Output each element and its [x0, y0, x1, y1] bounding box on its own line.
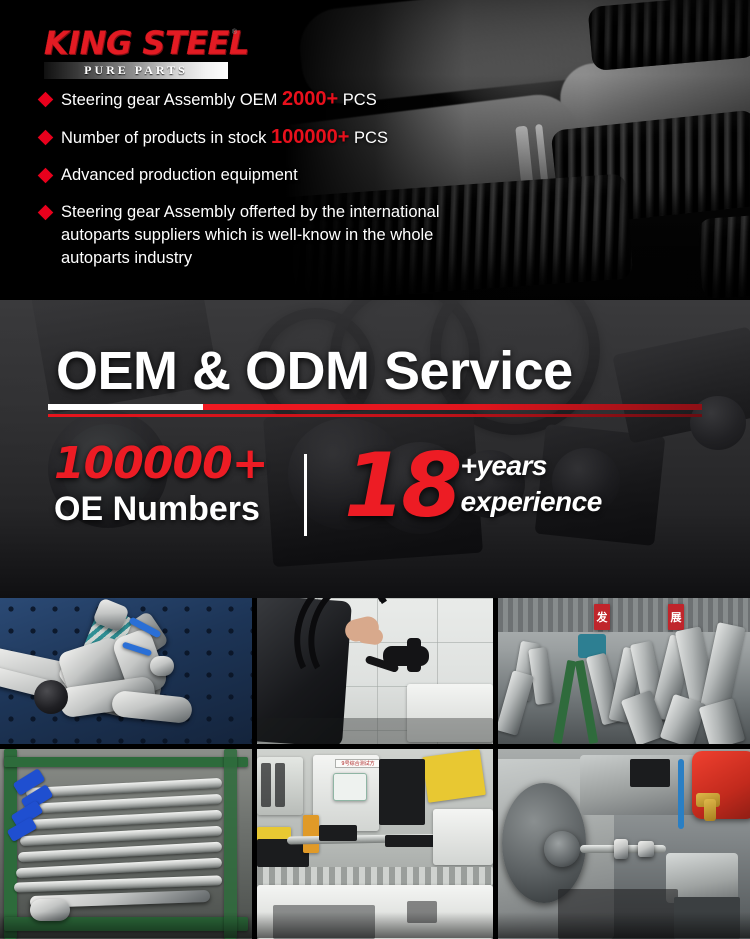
brand-name: KING STEEL: [44, 27, 228, 59]
feature-bullet-list: Steering gear Assembly OEM 2000+ PCS Num…: [40, 88, 510, 270]
diamond-bullet-icon: [38, 168, 54, 184]
list-item: Steering gear Assembly OEM 2000+ PCS: [40, 88, 510, 112]
trademark-icon: ®: [232, 29, 237, 36]
brand-tagline-bar: PURE PARTS: [44, 62, 228, 79]
bullet-text: Steering gear Assembly offerted by the i…: [61, 201, 461, 270]
bullet-highlight: 2000+: [282, 88, 338, 110]
warehouse-roof: [498, 598, 750, 632]
gallery-photo-6[interactable]: [498, 749, 750, 939]
gallery-photo-1[interactable]: [0, 598, 252, 744]
diamond-bullet-icon: [38, 205, 54, 221]
diamond-bullet-icon: [38, 92, 54, 108]
gallery-photo-2[interactable]: [257, 598, 493, 744]
hero-banner: KING STEEL ® PURE PARTS Steering gear As…: [0, 0, 750, 300]
machine-sign: 9号综合测试方: [335, 759, 381, 768]
brand-logo: KING STEEL ® PURE PARTS: [44, 27, 228, 79]
diamond-bullet-icon: [38, 130, 54, 146]
oem-odm-section: [0, 300, 750, 598]
bullet-text: Number of products in stock 100000+ PCS: [61, 126, 388, 150]
gallery-photo-4[interactable]: [0, 749, 252, 939]
list-item: Number of products in stock 100000+ PCS: [40, 126, 510, 150]
list-item: Steering gear Assembly offerted by the i…: [40, 201, 510, 270]
list-item: Advanced production equipment: [40, 164, 510, 187]
brand-tagline: PURE PARTS: [84, 63, 188, 78]
bullet-text: Steering gear Assembly OEM 2000+ PCS: [61, 88, 377, 112]
bullet-highlight: 100000+: [271, 126, 349, 148]
gallery-photo-3[interactable]: 发 展: [498, 598, 750, 744]
factory-photo-gallery: 发 展 9号综: [0, 598, 750, 938]
gallery-photo-5[interactable]: 9号综合测试方: [257, 749, 493, 939]
warehouse-sign-1: 发: [594, 604, 610, 630]
warehouse-sign-2: 展: [668, 604, 684, 630]
bullet-text: Advanced production equipment: [61, 164, 298, 187]
